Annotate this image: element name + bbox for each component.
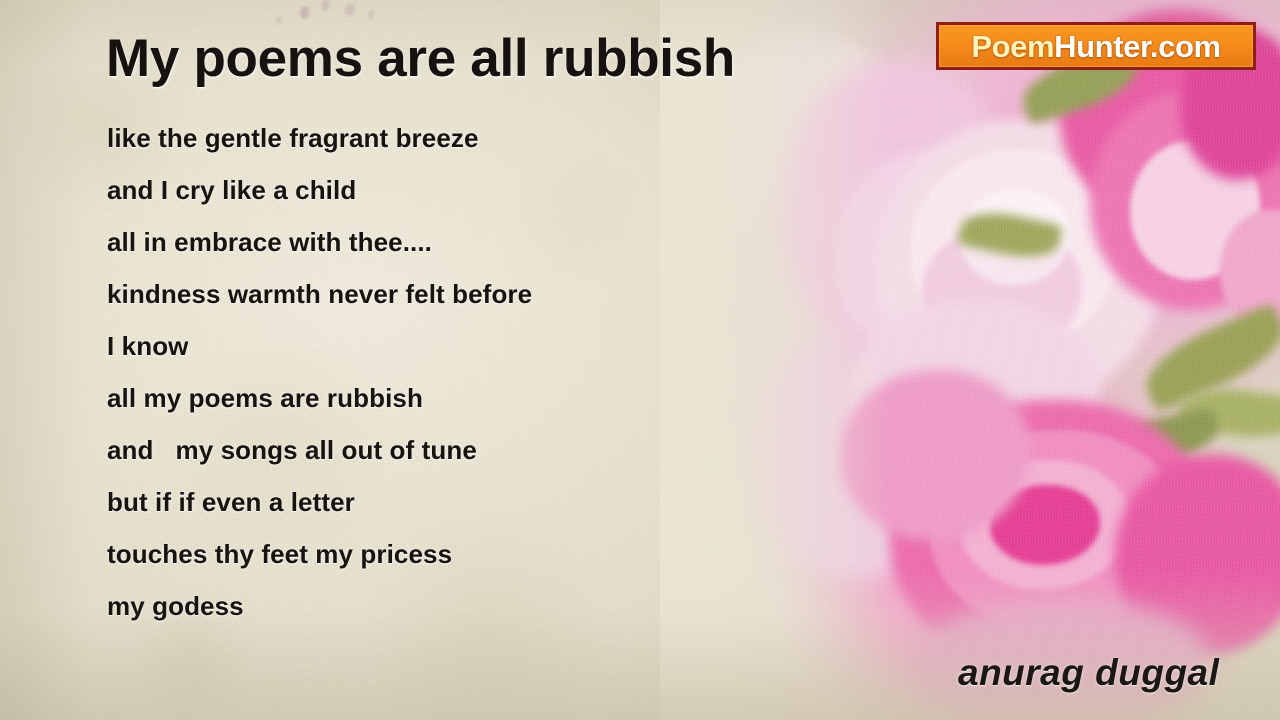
poem-line: kindness warmth never felt before bbox=[107, 268, 747, 320]
poem-line: all in embrace with thee.... bbox=[107, 216, 747, 268]
poem-line: and my songs all out of tune bbox=[107, 424, 747, 476]
poem-line: all my poems are rubbish bbox=[107, 372, 747, 424]
poem-card: My poems are all rubbish like the gentle… bbox=[0, 0, 1280, 720]
page-title: My poems are all rubbish bbox=[106, 28, 735, 89]
poemhunter-logo[interactable]: PoemHunter.com bbox=[936, 22, 1256, 70]
poem-line: touches thy feet my pricess bbox=[107, 528, 747, 580]
poem-line: I know bbox=[107, 320, 747, 372]
poem-line: but if if even a letter bbox=[107, 476, 747, 528]
poem-line: and I cry like a child bbox=[107, 164, 747, 216]
poem-line: like the gentle fragrant breeze bbox=[107, 112, 747, 164]
author-signature: anurag duggal bbox=[958, 652, 1219, 694]
poem-body: like the gentle fragrant breeze and I cr… bbox=[107, 112, 747, 632]
logo-text-secondary: Hunter.com bbox=[1054, 29, 1221, 64]
logo-text-primary: Poem bbox=[971, 29, 1054, 64]
logo-text: PoemHunter.com bbox=[971, 31, 1220, 62]
poem-line: my godess bbox=[107, 580, 747, 632]
